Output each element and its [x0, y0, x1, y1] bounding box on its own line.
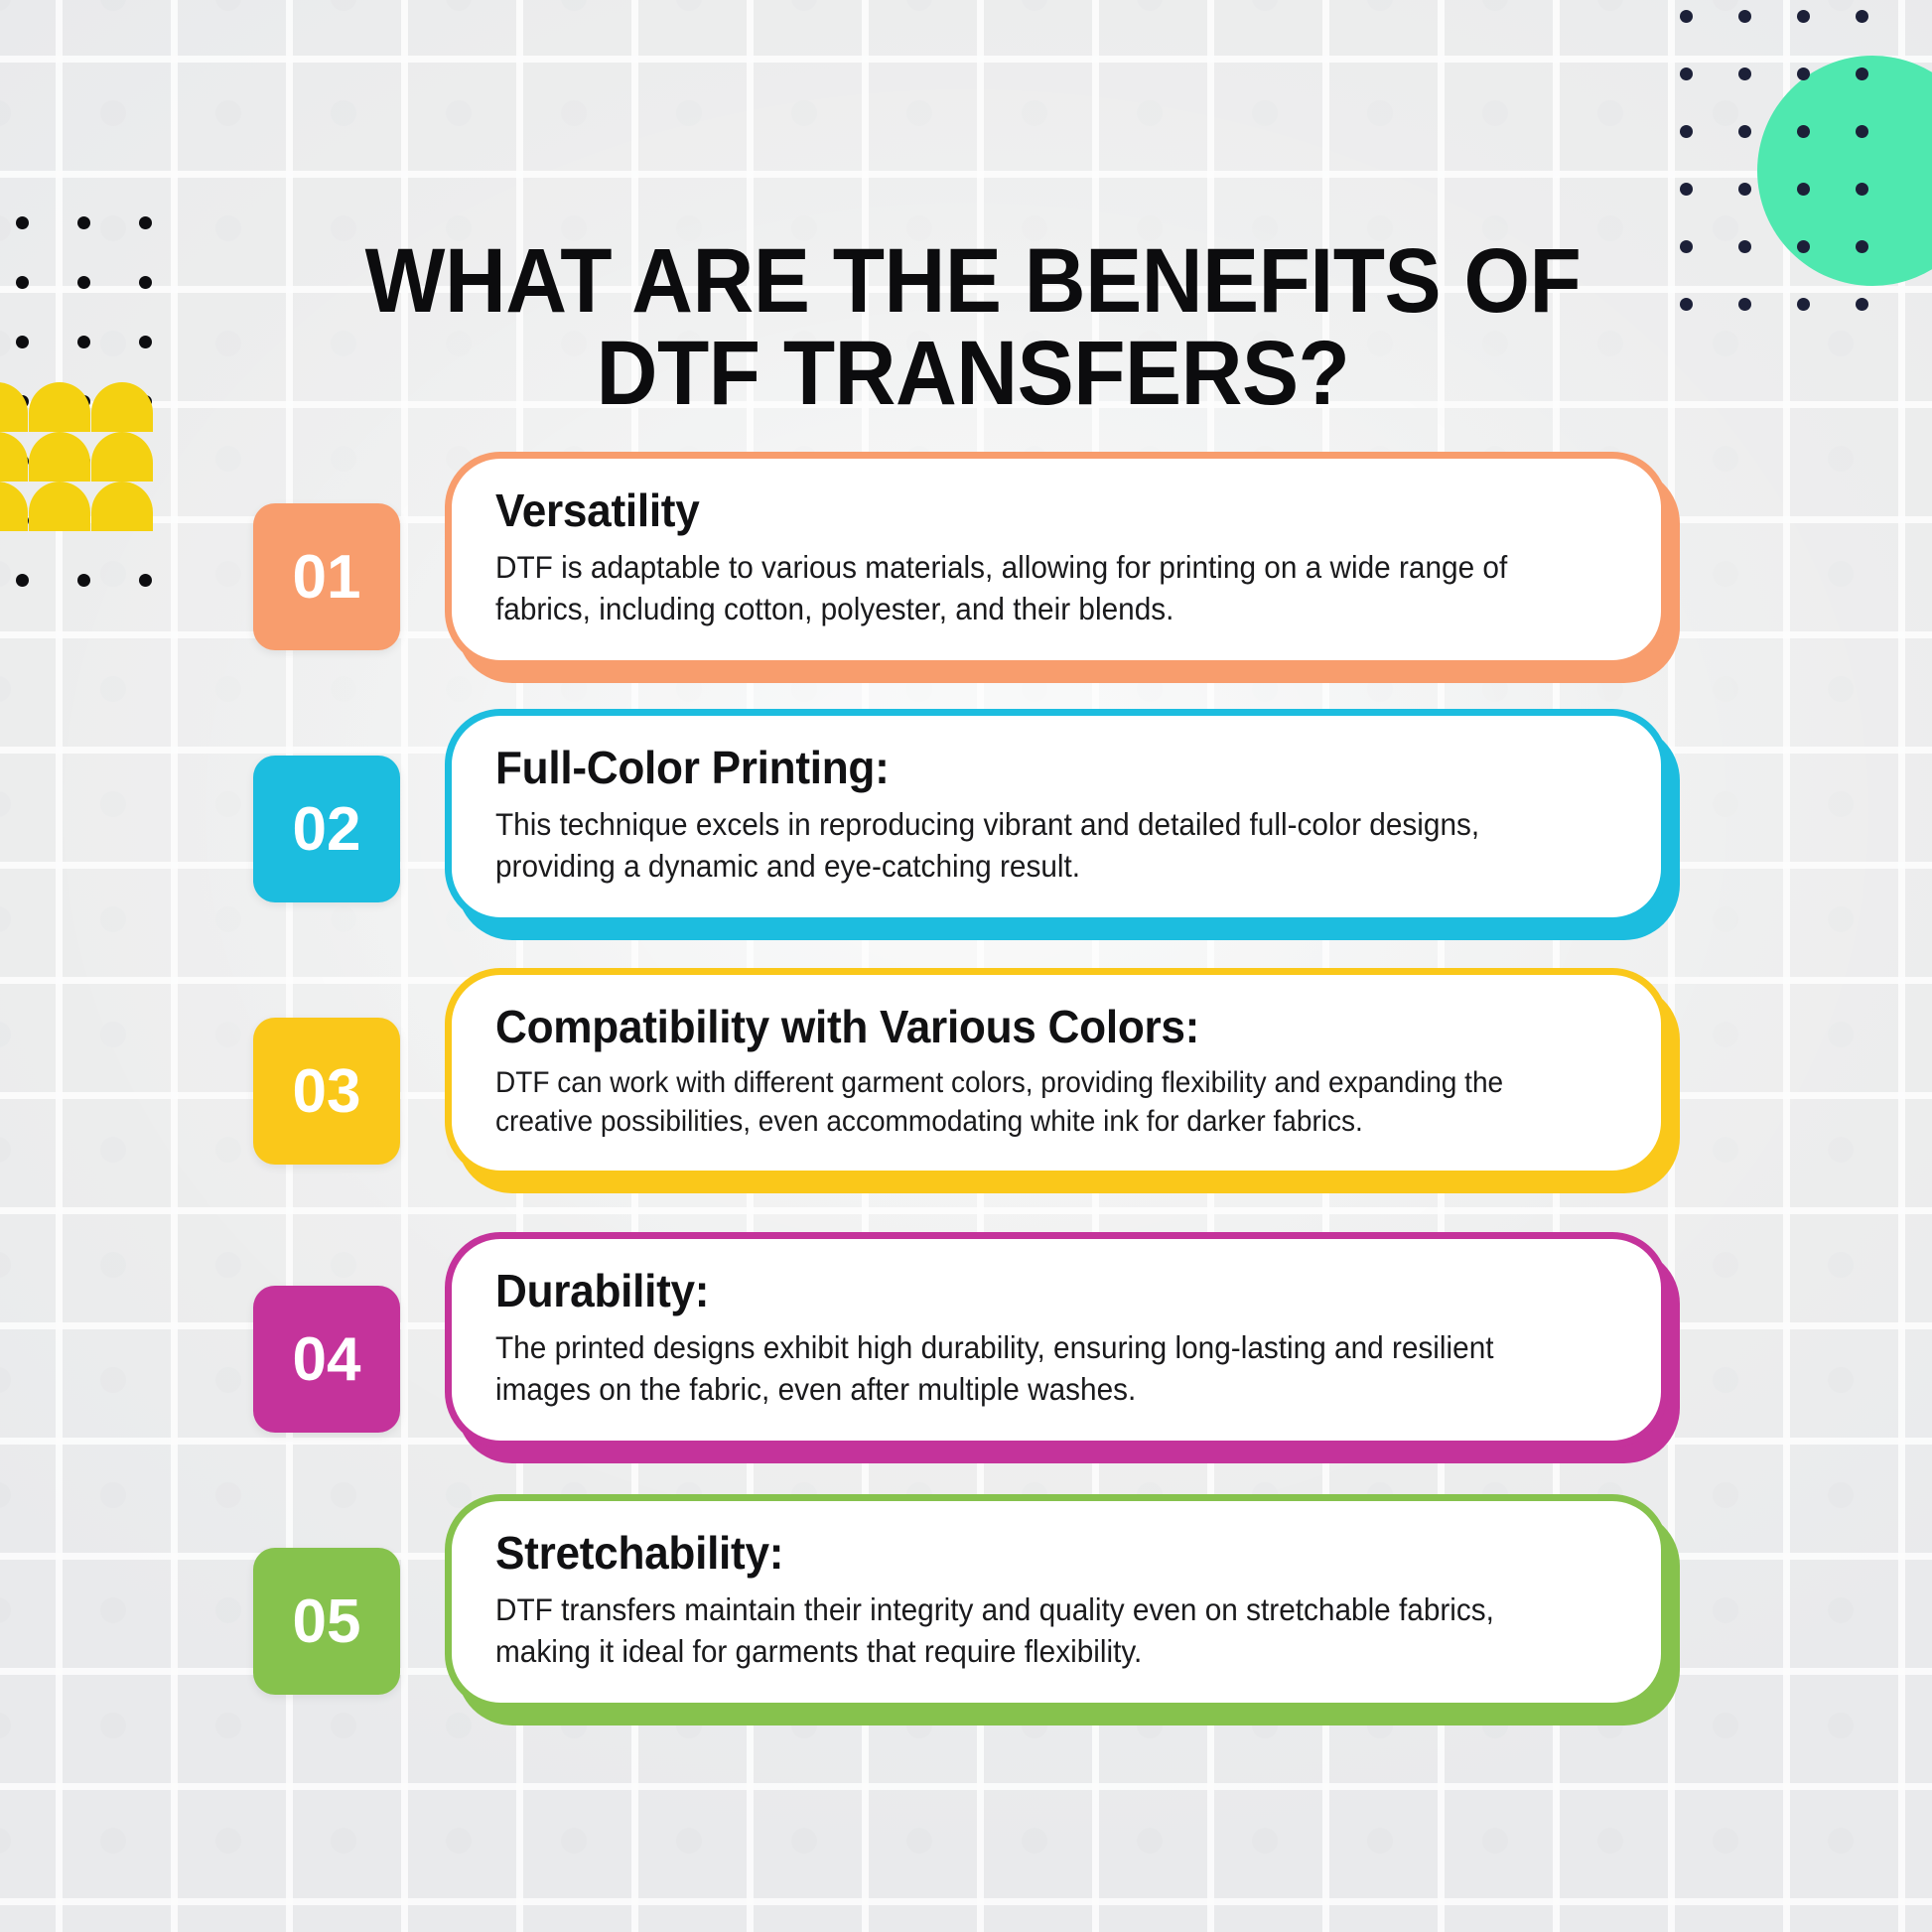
yellow-semicircle	[29, 382, 90, 432]
benefit-body-3: DTF can work with different garment colo…	[495, 1063, 1562, 1141]
benefit-row-2: 02 Full-Color Printing: This technique e…	[0, 714, 1932, 976]
decorative-dot	[139, 276, 152, 289]
infographic-poster: WHAT ARE THE BENEFITS OF DTF TRANSFERS? …	[0, 0, 1932, 1932]
benefit-card-5[interactable]: Stretchability: DTF transfers maintain t…	[445, 1494, 1668, 1710]
decorative-dot	[1856, 298, 1868, 311]
decorative-dot	[16, 276, 29, 289]
decorative-dot	[1856, 183, 1868, 196]
benefit-body-1: DTF is adaptable to various materials, a…	[495, 547, 1556, 630]
decorative-dot	[1738, 240, 1751, 253]
decorative-dot	[1797, 125, 1810, 138]
decorative-dot	[1856, 10, 1868, 23]
benefit-card-wrap-3: Compatibility with Various Colors: DTF c…	[445, 968, 1668, 1177]
decorative-dot	[1738, 298, 1751, 311]
decorative-dot	[139, 216, 152, 229]
benefit-body-4: The printed designs exhibit high durabil…	[495, 1327, 1556, 1411]
benefit-card-3[interactable]: Compatibility with Various Colors: DTF c…	[445, 968, 1668, 1177]
benefit-number-badge-2: 02	[253, 756, 400, 902]
yellow-semicircle	[0, 382, 28, 432]
decorative-dot	[77, 336, 90, 348]
semicircle-row	[0, 382, 195, 432]
benefits-list: 01 Versatility DTF is adaptable to vario…	[0, 452, 1932, 1762]
decorative-dot	[1738, 68, 1751, 80]
benefit-number-badge-5: 05	[253, 1548, 400, 1695]
benefit-card-1[interactable]: Versatility DTF is adaptable to various …	[445, 452, 1668, 667]
decorative-dot	[1680, 68, 1693, 80]
benefit-card-2[interactable]: Full-Color Printing: This technique exce…	[445, 709, 1668, 924]
decorative-dot	[77, 216, 90, 229]
benefit-number-badge-4: 04	[253, 1286, 400, 1433]
benefit-row-1: 01 Versatility DTF is adaptable to vario…	[0, 452, 1932, 714]
benefit-card-wrap-5: Stretchability: DTF transfers maintain t…	[445, 1494, 1668, 1710]
decorative-dot	[1738, 125, 1751, 138]
benefit-title-1: Versatility	[495, 484, 1573, 537]
benefit-title-2: Full-Color Printing:	[495, 742, 1573, 794]
decorative-dot	[1797, 240, 1810, 253]
benefit-card-4[interactable]: Durability: The printed designs exhibit …	[445, 1232, 1668, 1448]
benefit-body-2: This technique excels in reproducing vib…	[495, 804, 1556, 888]
decorative-dot	[1680, 125, 1693, 138]
page-title: WHAT ARE THE BENEFITS OF DTF TRANSFERS?	[290, 235, 1656, 422]
yellow-semicircle	[91, 382, 153, 432]
benefit-row-4: 04 Durability: The printed designs exhib…	[0, 1238, 1932, 1500]
decorative-dot	[1680, 10, 1693, 23]
benefit-title-5: Stretchability:	[495, 1527, 1573, 1580]
benefit-row-5: 05 Stretchability: DTF transfers maintai…	[0, 1500, 1932, 1762]
benefit-title-4: Durability:	[495, 1265, 1573, 1317]
decorative-dot	[1738, 10, 1751, 23]
decorative-dot	[1797, 68, 1810, 80]
benefit-card-wrap-2: Full-Color Printing: This technique exce…	[445, 709, 1668, 924]
decorative-dot	[1680, 240, 1693, 253]
decorative-dot	[1797, 10, 1810, 23]
decorative-dot	[1738, 183, 1751, 196]
benefit-card-wrap-4: Durability: The printed designs exhibit …	[445, 1232, 1668, 1448]
decorative-dot	[139, 336, 152, 348]
decorative-dot	[1680, 298, 1693, 311]
decorative-dot	[1797, 298, 1810, 311]
decorative-dot	[77, 276, 90, 289]
decorative-dot	[1680, 183, 1693, 196]
benefit-row-3: 03 Compatibility with Various Colors: DT…	[0, 976, 1932, 1238]
decorative-dot	[1856, 240, 1868, 253]
benefit-number-badge-3: 03	[253, 1018, 400, 1165]
decorative-dot	[1797, 183, 1810, 196]
decorative-dot	[1856, 125, 1868, 138]
benefit-body-5: DTF transfers maintain their integrity a…	[495, 1589, 1556, 1673]
benefit-number-badge-1: 01	[253, 503, 400, 650]
decorative-dot	[16, 336, 29, 348]
decorative-dot	[16, 216, 29, 229]
benefit-card-wrap-1: Versatility DTF is adaptable to various …	[445, 452, 1668, 667]
decorative-dot	[1856, 68, 1868, 80]
benefit-title-3: Compatibility with Various Colors:	[495, 1001, 1573, 1053]
dot-grid-top-right-decoration	[1680, 10, 1914, 355]
